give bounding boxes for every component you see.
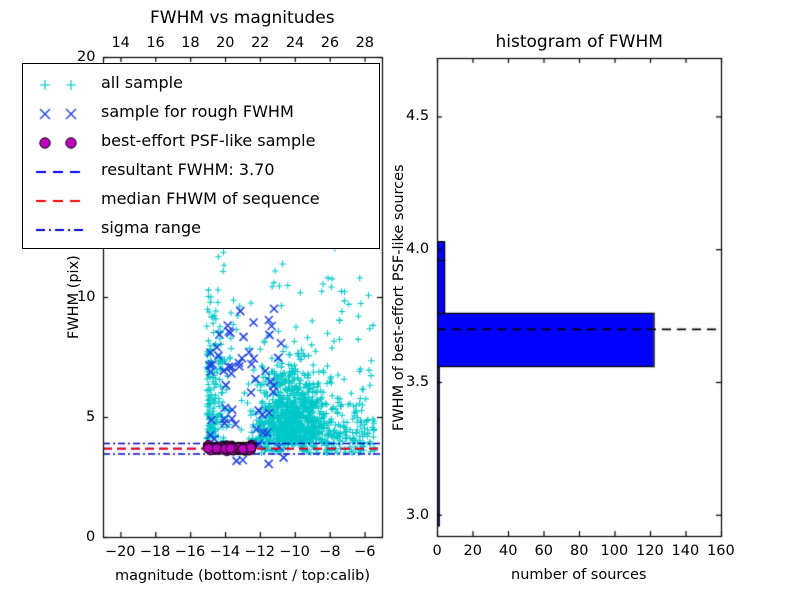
- legend-marker-dashed-icon: [31, 186, 93, 215]
- legend-entry: all sample: [23, 70, 379, 99]
- legend-entry: best-effort PSF-like sample: [23, 128, 379, 157]
- legend-entry-label: median FHWM of sequence: [101, 189, 320, 208]
- legend-entry-label: all sample: [101, 73, 183, 92]
- legend-box: all samplesample for rough FWHMbest-effo…: [22, 63, 380, 249]
- legend-entry-label: resultant FWHM: 3.70: [101, 160, 275, 179]
- legend-marker-circle-icon: [31, 128, 93, 157]
- legend-marker-plus-icon: [31, 70, 93, 99]
- legend-entry-label: sigma range: [101, 218, 201, 237]
- legend-entry: resultant FWHM: 3.70: [23, 157, 379, 186]
- figure-canvas-container: −20−18−16−14−12−10−8−6141618202224262805…: [0, 0, 800, 600]
- legend-entry: sigma range: [23, 215, 379, 244]
- legend-marker-cross-icon: [31, 99, 93, 128]
- legend-entry: median FHWM of sequence: [23, 186, 379, 215]
- legend-entry-label: sample for rough FWHM: [101, 102, 294, 121]
- legend-marker-dashdot-icon: [31, 215, 93, 244]
- legend-entry: sample for rough FWHM: [23, 99, 379, 128]
- legend-marker-dashed-icon: [31, 157, 93, 186]
- legend-entry-label: best-effort PSF-like sample: [101, 131, 315, 150]
